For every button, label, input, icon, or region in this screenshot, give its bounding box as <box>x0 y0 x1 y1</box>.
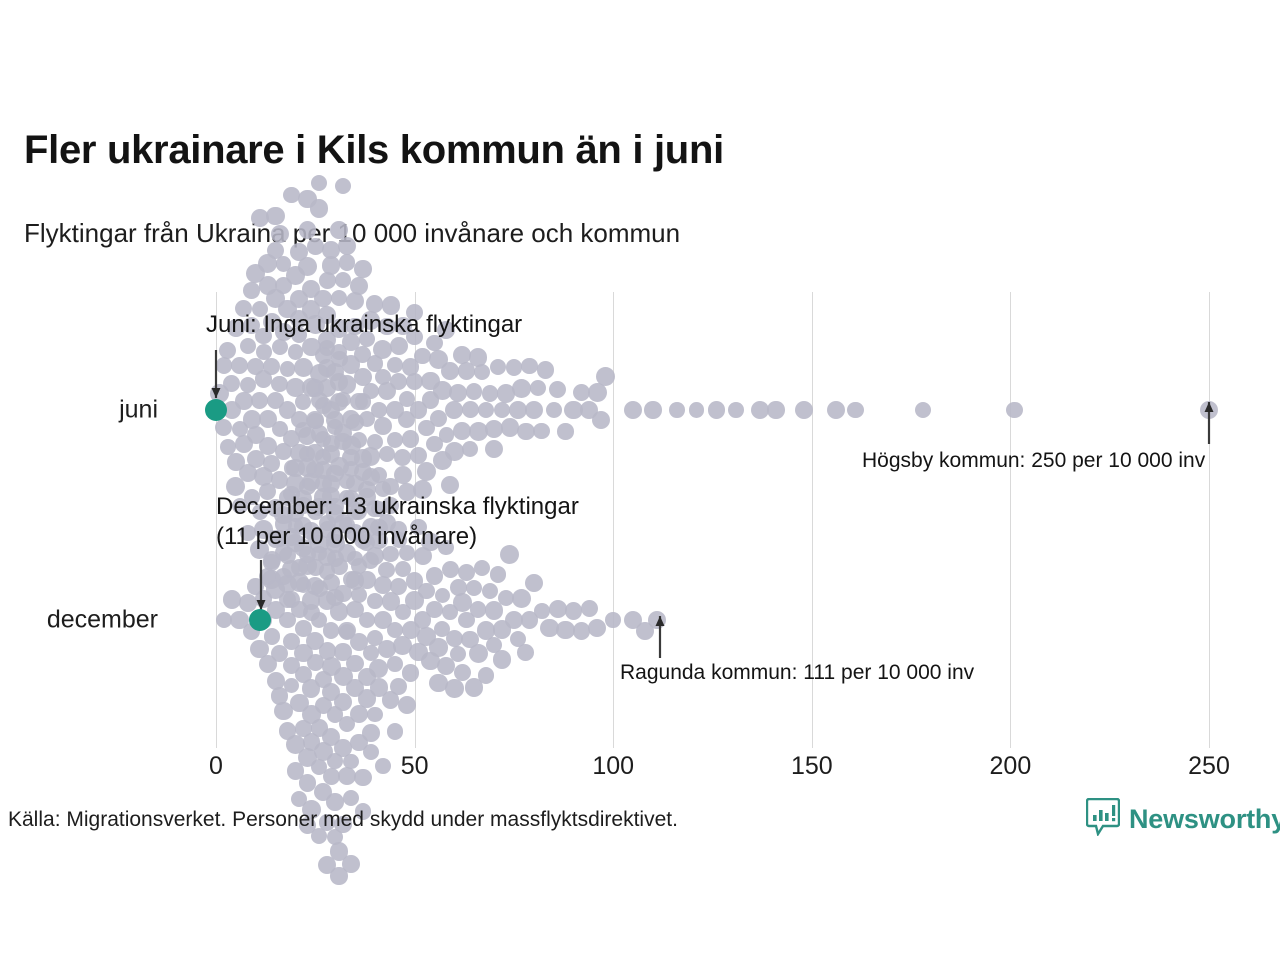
logo-wordmark: Newsworthy <box>1129 804 1280 835</box>
data-point <box>501 418 519 436</box>
data-point <box>512 589 531 608</box>
annotation-arrow-ragunda <box>646 602 674 672</box>
data-point <box>525 574 543 592</box>
data-point <box>453 593 472 612</box>
data-point <box>367 593 383 609</box>
data-point <box>485 440 503 458</box>
data-point <box>359 612 375 628</box>
data-point <box>728 402 744 418</box>
data-point <box>533 423 549 439</box>
data-point <box>323 622 339 638</box>
data-point <box>521 358 538 375</box>
data-point <box>394 449 411 466</box>
data-point <box>708 401 726 419</box>
data-point <box>342 855 360 873</box>
data-point <box>478 402 494 418</box>
data-point <box>624 401 642 419</box>
data-point <box>330 393 348 411</box>
data-point <box>525 401 544 420</box>
data-point <box>398 696 416 714</box>
data-point <box>390 678 407 695</box>
data-point <box>546 402 562 418</box>
data-point <box>280 361 296 377</box>
data-point <box>367 707 383 723</box>
data-point <box>331 351 348 368</box>
data-point <box>355 393 372 410</box>
data-point <box>466 383 482 399</box>
data-point <box>426 601 443 618</box>
data-point <box>418 583 434 599</box>
data-point <box>363 744 379 760</box>
data-point <box>493 650 511 668</box>
data-point <box>466 580 482 596</box>
data-point <box>435 588 451 604</box>
data-point <box>494 402 510 418</box>
data-point <box>271 225 289 243</box>
data-point <box>326 465 343 482</box>
data-point <box>286 459 304 477</box>
data-point <box>669 402 685 418</box>
data-point <box>458 564 475 581</box>
data-point <box>596 367 615 386</box>
highlighted-data-point-juni[interactable] <box>205 399 227 421</box>
data-point <box>847 402 864 419</box>
annotation-juni-highlight: Juni: Inga ukrainska flyktingar <box>206 310 522 340</box>
data-point <box>689 402 705 418</box>
data-point <box>1006 402 1023 419</box>
x-tick-label: 250 <box>1188 752 1230 781</box>
data-point <box>557 423 573 439</box>
chart-figure: Fler ukrainare i Kils kommun än i juni F… <box>0 0 1280 960</box>
data-point <box>450 646 466 662</box>
data-point <box>490 359 506 375</box>
data-point <box>298 257 317 276</box>
data-point <box>482 583 499 600</box>
data-point <box>387 432 403 448</box>
data-point <box>795 401 814 420</box>
data-point <box>231 357 248 374</box>
data-point <box>462 441 478 457</box>
data-point <box>441 476 459 494</box>
data-point <box>478 667 495 684</box>
data-point <box>343 754 359 770</box>
gridline <box>613 292 614 748</box>
data-point <box>266 207 284 225</box>
data-point <box>387 357 403 373</box>
data-point <box>235 392 252 409</box>
data-point <box>426 567 443 584</box>
source-note: Källa: Migrationsverket. Personer med sk… <box>8 808 678 832</box>
data-point <box>530 380 546 396</box>
data-point <box>371 402 387 418</box>
data-point <box>240 377 256 393</box>
data-point <box>588 619 606 637</box>
data-point <box>263 358 280 375</box>
data-point <box>339 254 355 270</box>
data-point <box>358 571 375 588</box>
data-point <box>474 364 491 381</box>
data-point <box>362 724 380 742</box>
data-point <box>259 437 277 455</box>
data-point <box>369 659 388 678</box>
data-point <box>335 178 352 195</box>
data-point <box>915 402 931 418</box>
data-point <box>827 401 845 419</box>
data-point <box>335 272 351 288</box>
data-point <box>549 381 566 398</box>
data-point <box>314 290 332 308</box>
data-point <box>605 612 621 628</box>
data-point <box>307 238 324 255</box>
data-point <box>243 282 260 299</box>
data-point <box>390 373 407 390</box>
data-point <box>331 290 347 306</box>
data-point <box>251 392 268 409</box>
bar-chart-speech-bubble-icon <box>1086 798 1120 841</box>
gridline <box>1209 292 1210 748</box>
x-tick-label: 100 <box>592 752 634 781</box>
data-point <box>517 423 535 441</box>
data-point <box>338 237 356 255</box>
data-point <box>549 600 567 618</box>
data-point <box>375 758 391 774</box>
data-point <box>581 600 598 617</box>
x-tick-label: 0 <box>209 752 223 781</box>
data-point <box>264 628 280 644</box>
data-point <box>379 446 395 462</box>
data-point <box>346 292 364 310</box>
data-point <box>441 362 459 380</box>
data-point <box>462 401 479 418</box>
data-point <box>469 644 488 663</box>
data-point <box>449 384 467 402</box>
data-point <box>346 414 364 432</box>
data-point <box>240 338 256 354</box>
x-tick-label: 200 <box>990 752 1032 781</box>
data-point <box>439 427 455 443</box>
data-point <box>429 638 447 656</box>
x-tick-label: 150 <box>791 752 833 781</box>
data-point <box>442 561 460 579</box>
annotation-hogsby-max: Högsby kommun: 250 per 10 000 inv <box>862 448 1205 474</box>
data-point <box>387 656 403 672</box>
data-point <box>390 578 407 595</box>
annotation-arrow-hogsby <box>1195 388 1223 458</box>
data-point <box>512 379 531 398</box>
data-point <box>343 790 359 806</box>
data-point <box>310 199 328 217</box>
data-point <box>354 449 372 467</box>
data-point <box>351 587 367 603</box>
data-point <box>506 359 523 376</box>
data-point <box>354 769 371 786</box>
data-point <box>534 603 550 619</box>
data-point <box>378 562 395 579</box>
data-point <box>592 411 610 429</box>
annotation-december-highlight: December: 13 ukrainska flyktingar (11 pe… <box>216 492 579 552</box>
data-point <box>490 566 507 583</box>
data-point <box>322 256 340 274</box>
data-point <box>330 373 348 391</box>
data-point <box>474 560 490 576</box>
data-point <box>299 221 317 239</box>
newsworthy-logo[interactable]: Newsworthy <box>1086 798 1280 841</box>
data-point <box>644 401 661 418</box>
data-point <box>445 679 463 697</box>
data-point <box>445 401 463 419</box>
x-tick-label: 50 <box>401 752 429 781</box>
data-point <box>517 644 534 661</box>
data-point <box>482 385 499 402</box>
data-point <box>537 361 555 379</box>
data-point <box>414 348 430 364</box>
y-category-label-december: december <box>47 606 158 635</box>
data-point <box>402 664 420 682</box>
data-point <box>394 466 412 484</box>
data-point <box>311 175 327 191</box>
data-point <box>374 576 392 594</box>
data-point <box>354 260 371 277</box>
data-point <box>470 601 486 617</box>
data-point <box>272 339 288 355</box>
highlighted-data-point-december[interactable] <box>249 609 271 631</box>
data-point <box>215 419 232 436</box>
y-category-label-juni: juni <box>119 396 158 425</box>
data-point <box>505 611 523 629</box>
data-point <box>350 277 368 295</box>
gridline <box>1010 292 1011 748</box>
data-point <box>767 401 784 418</box>
data-point <box>445 442 464 461</box>
data-point <box>387 723 403 739</box>
data-point <box>565 602 583 620</box>
data-point <box>402 430 419 447</box>
